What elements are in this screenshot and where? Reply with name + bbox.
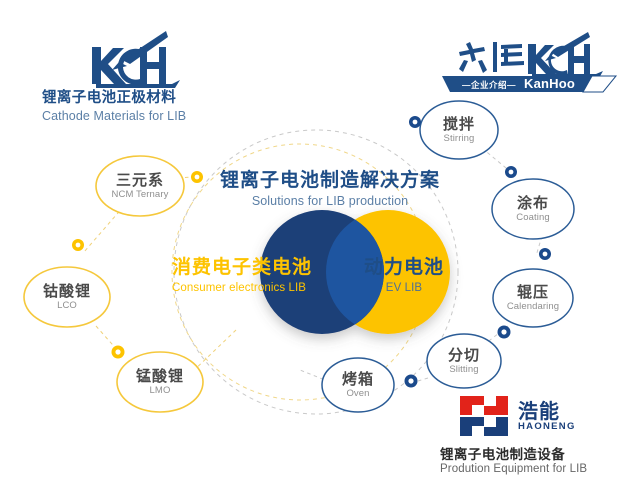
- node-label-stirring-cn: 搅拌: [443, 117, 475, 132]
- node-label-ncm-cn: 三元系: [116, 173, 164, 188]
- page-subtitle: Solutions for LIB production: [220, 194, 440, 208]
- diagram-canvas: 锂离子电池正极材料 Cathode Materials for LIB: [0, 0, 619, 489]
- node-label-coating-cn: 涂布: [517, 196, 549, 211]
- connector-dot-blue-4: [498, 326, 511, 339]
- connector-dot-blue-2: [505, 166, 517, 178]
- node-label-calendaring-en: Calendaring: [507, 302, 559, 312]
- kh-monogram-icon: [92, 31, 180, 88]
- haoneng-tagline-cn: 锂离子电池制造设备: [440, 443, 565, 463]
- node-label-lmo[interactable]: 锰酸锂 LMO: [116, 362, 204, 402]
- venn-label-consumer-en: Consumer electronics LIB: [172, 282, 312, 294]
- node-label-ncm[interactable]: 三元系 NCM Ternary: [96, 166, 184, 206]
- node-label-lmo-en: LMO: [150, 386, 171, 396]
- haoneng-brand-en: HAONENG: [518, 421, 576, 432]
- kanhoo-banner-en: KanHoo: [524, 76, 575, 91]
- connector-dot-blue-5: [405, 375, 418, 388]
- node-label-coating-en: Coating: [516, 213, 549, 223]
- haoneng-brand-cn: 浩能: [518, 395, 560, 424]
- node-label-coating[interactable]: 涂布 Coating: [493, 190, 573, 228]
- node-label-stirring-en: Stirring: [444, 134, 475, 144]
- node-label-lco-cn: 钴酸锂: [43, 284, 91, 299]
- connector-dot-yellow-3: [112, 346, 125, 359]
- kanhoo-stylized-cn-icon: [459, 42, 524, 73]
- venn-label-ev-en: EV LIB: [355, 282, 453, 294]
- venn-label-ev: 动力电池 EV LIB: [355, 252, 453, 294]
- center-title-block: 锂离子电池制造解决方案 Solutions for LIB production: [220, 165, 440, 208]
- node-label-oven-en: Oven: [346, 389, 369, 399]
- venn-label-ev-cn: 动力电池: [355, 252, 453, 279]
- node-label-stirring[interactable]: 搅拌 Stirring: [419, 111, 499, 149]
- node-label-ncm-en: NCM Ternary: [112, 190, 169, 200]
- node-label-oven-cn: 烤箱: [342, 372, 374, 387]
- node-label-slitting-cn: 分切: [448, 348, 480, 363]
- node-label-lco[interactable]: 钴酸锂 LCO: [23, 277, 111, 317]
- venn-label-consumer-cn: 消费电子类电池: [172, 252, 312, 279]
- connector-dot-yellow-2: [72, 239, 84, 251]
- node-label-slitting[interactable]: 分切 Slitting: [424, 342, 504, 380]
- node-label-slitting-en: Slitting: [449, 365, 478, 375]
- node-label-lmo-cn: 锰酸锂: [136, 369, 184, 384]
- connector-dot-yellow-1: [191, 171, 203, 183]
- node-label-calendaring[interactable]: 辊压 Calendaring: [493, 279, 573, 317]
- node-label-oven[interactable]: 烤箱 Oven: [318, 366, 398, 404]
- haoneng-tagline-en: Prodution Equipment for LIB: [440, 463, 587, 475]
- left-logo-text-block: 锂离子电池正极材料 Cathode Materials for LIB: [42, 90, 186, 124]
- kanhoo-kh-monogram-icon: [528, 32, 603, 78]
- kanhoo-logo-block: —企业介绍— KanHoo: [440, 22, 619, 94]
- venn-label-consumer: 消费电子类电池 Consumer electronics LIB: [172, 252, 312, 294]
- kanhoo-banner-cn: —企业介绍—: [462, 79, 516, 91]
- node-label-calendaring-cn: 辊压: [517, 285, 549, 300]
- node-label-lco-en: LCO: [57, 301, 77, 311]
- left-logo-en: Cathode Materials for LIB: [42, 109, 186, 124]
- connector-dot-blue-3: [539, 248, 551, 260]
- page-title: 锂离子电池制造解决方案: [220, 165, 440, 192]
- haoneng-logo-block: 浩能 HAONENG 锂离子电池制造设备 Prodution Equipment…: [440, 393, 619, 483]
- haoneng-lightning-icon: [460, 396, 508, 436]
- left-logo-cn: 锂离子电池正极材料: [42, 90, 186, 107]
